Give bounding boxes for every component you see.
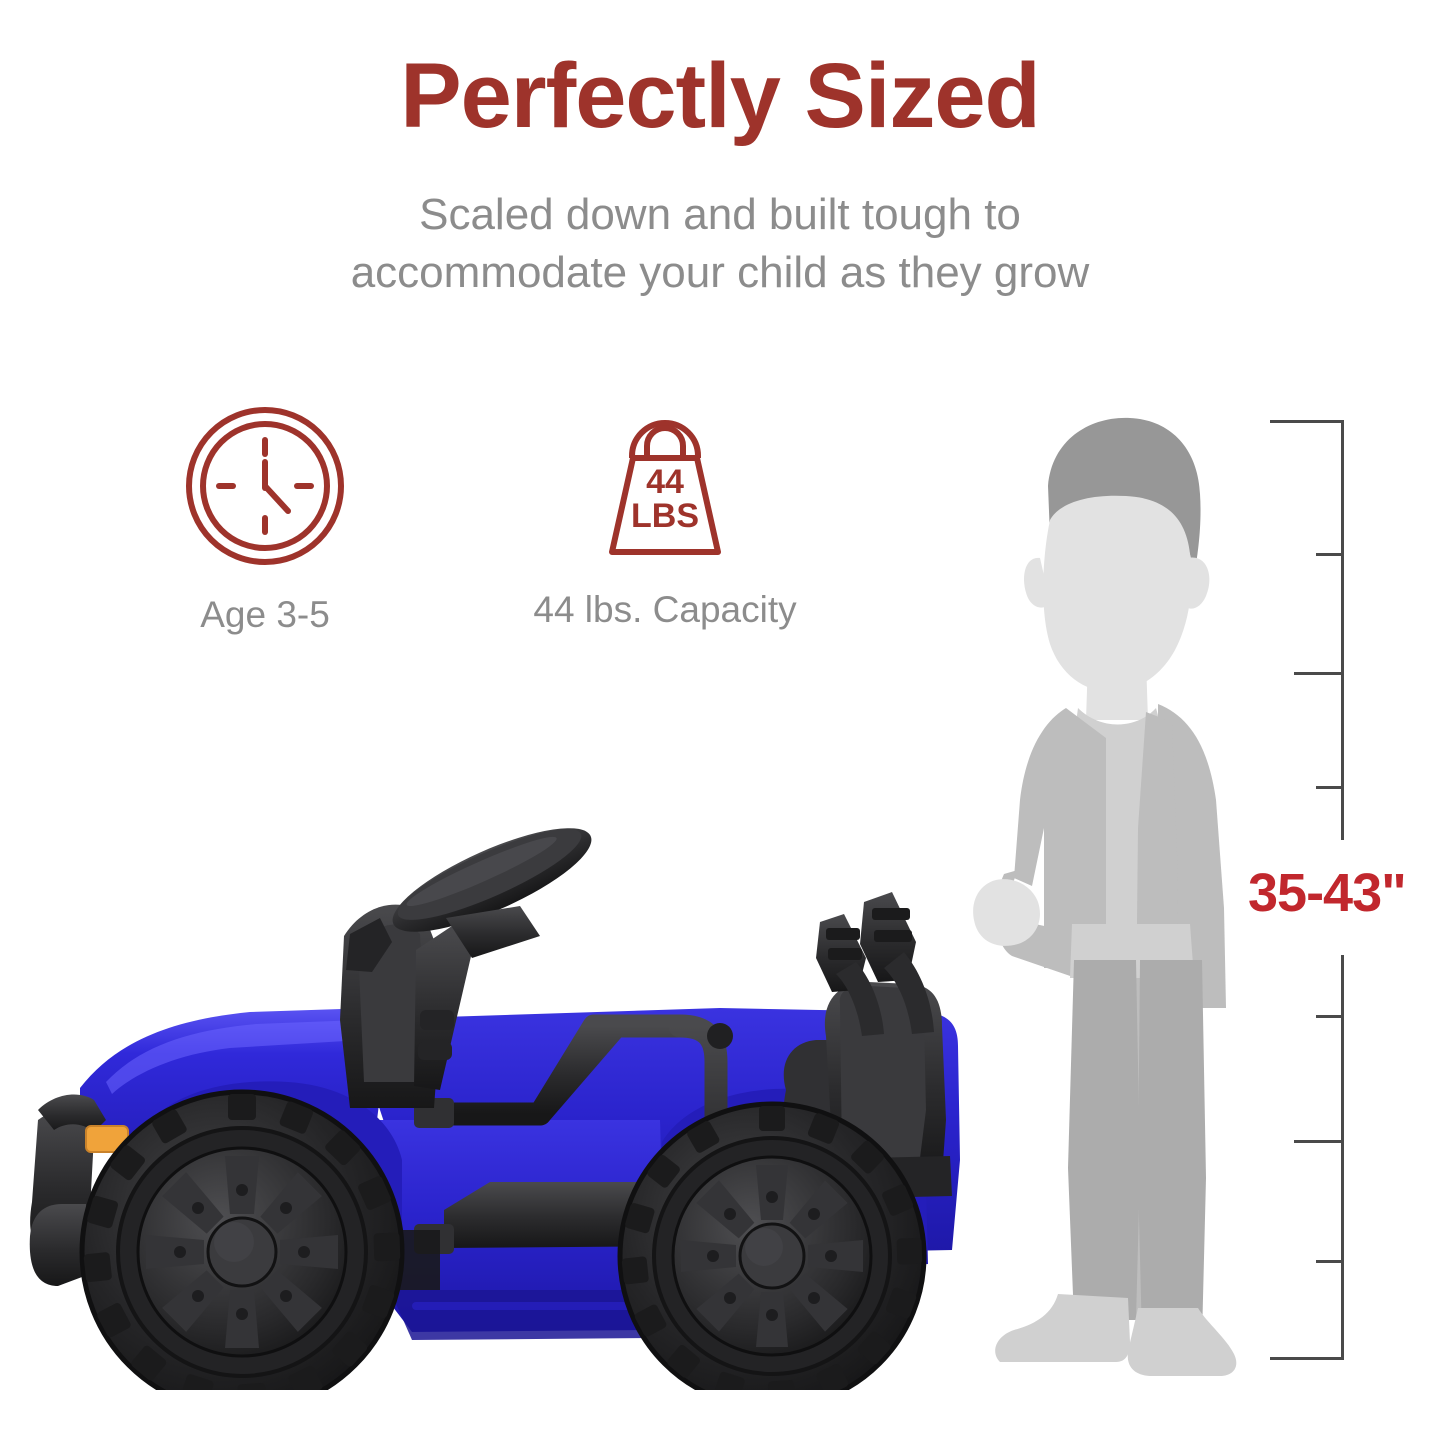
page-title: Perfectly Sized xyxy=(0,48,1440,145)
ruler-tick-short xyxy=(1316,1260,1344,1263)
ruler-tick-long-bottom xyxy=(1270,1357,1344,1360)
weight-badge-unit: LBS xyxy=(450,500,880,532)
ruler-tick-short xyxy=(1316,553,1344,556)
ruler-spine-upper xyxy=(1341,420,1344,840)
feature-capacity-label: 44 lbs. Capacity xyxy=(450,589,880,631)
subtitle-line-2: accommodate your child as they grow xyxy=(0,244,1440,302)
weight-badge: 44 LBS xyxy=(450,466,880,533)
blue-ride-on-truck xyxy=(20,690,1020,1390)
feature-age-label: Age 3-5 xyxy=(100,594,430,636)
infographic-canvas: Perfectly Sized Scaled down and built to… xyxy=(0,0,1440,1440)
ruler-tick-medium xyxy=(1294,1140,1344,1143)
feature-capacity: 44 LBS 44 lbs. Capacity xyxy=(450,404,880,631)
ruler-tick-short xyxy=(1316,786,1344,789)
clock-icon xyxy=(100,404,430,579)
ruler-tick-short xyxy=(1316,1015,1344,1018)
subtitle-line-1: Scaled down and built tough to xyxy=(419,190,1021,239)
rear-wheel xyxy=(620,1104,924,1390)
ruler-tick-medium xyxy=(1294,672,1344,675)
front-wheel xyxy=(82,1092,402,1390)
feature-age: Age 3-5 xyxy=(100,404,430,636)
page-subtitle: Scaled down and built tough to accommoda… xyxy=(0,186,1440,302)
ruler-tick-long-top xyxy=(1270,420,1344,423)
height-range-label: 35-43" xyxy=(1248,862,1406,924)
weight-badge-number: 44 xyxy=(450,466,880,498)
